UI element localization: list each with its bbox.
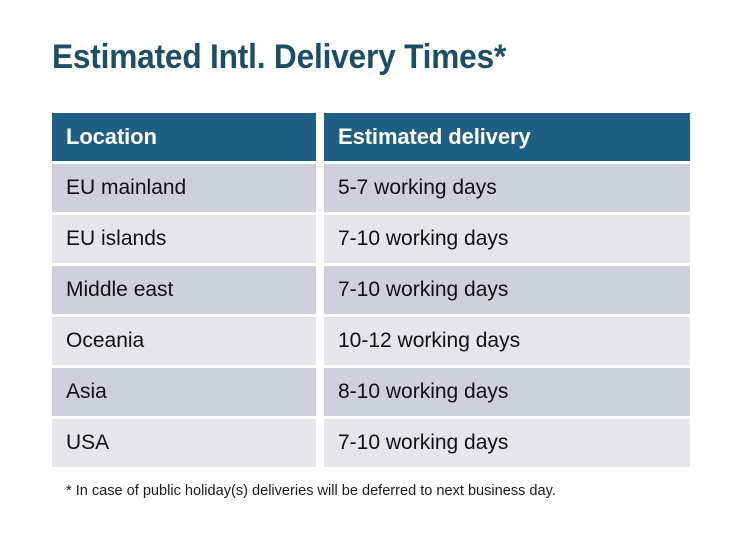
table-row: USA 7-10 working days [52,419,690,467]
table-row: Oceania 10-12 working days [52,317,690,365]
table-row: Asia 8-10 working days [52,368,690,416]
cell-estimated-delivery: 7-10 working days [324,419,690,467]
cell-location: Oceania [52,317,316,365]
table-header-row: Location Estimated delivery [52,113,690,161]
table-row: EU islands 7-10 working days [52,215,690,263]
cell-estimated-delivery: 5-7 working days [324,164,690,212]
delivery-times-page: Estimated Intl. Delivery Times* Location… [0,0,745,536]
footnote-public-holiday: * In case of public holiday(s) deliverie… [66,481,687,501]
table-row: EU mainland 5-7 working days [52,164,690,212]
cell-estimated-delivery: 7-10 working days [324,215,690,263]
table-row: Middle east 7-10 working days [52,266,690,314]
cell-location: EU islands [52,215,316,263]
cell-location: USA [52,419,316,467]
cell-estimated-delivery: 7-10 working days [324,266,690,314]
column-header-estimated-delivery: Estimated delivery [324,113,690,161]
cell-estimated-delivery: 10-12 working days [324,317,690,365]
cell-location: Asia [52,368,316,416]
cell-location: Middle east [52,266,316,314]
column-header-location: Location [52,113,316,161]
delivery-times-table: Location Estimated delivery EU mainland … [52,113,690,470]
cell-location: EU mainland [52,164,316,212]
cell-estimated-delivery: 8-10 working days [324,368,690,416]
page-title: Estimated Intl. Delivery Times* [52,36,647,78]
